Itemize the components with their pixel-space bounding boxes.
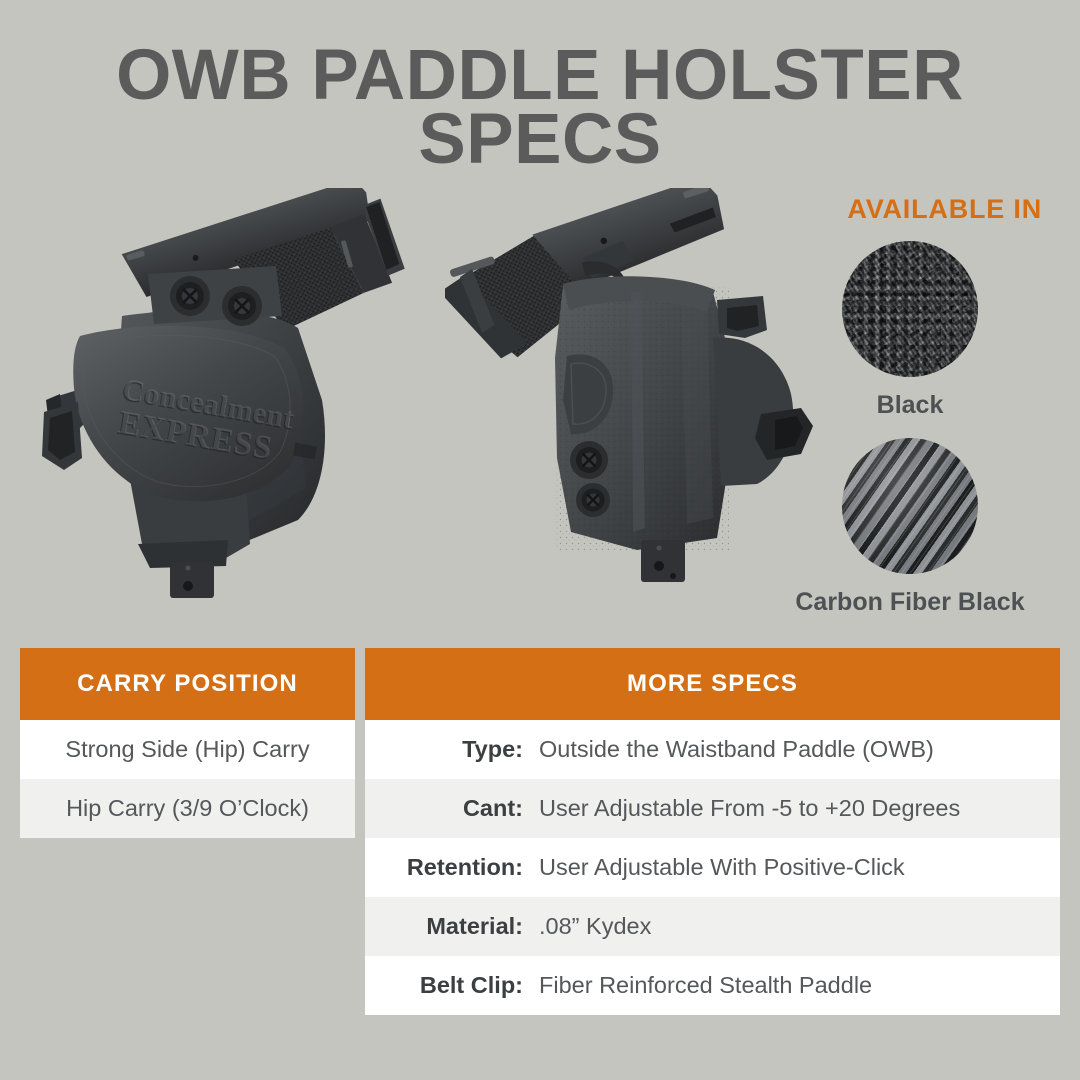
spec-value: Fiber Reinforced Stealth Paddle <box>531 972 872 999</box>
spec-value: User Adjustable With Positive-Click <box>531 854 905 881</box>
table-row: Type: Outside the Waistband Paddle (OWB) <box>365 720 1060 779</box>
spec-value: User Adjustable From -5 to +20 Degrees <box>531 795 960 822</box>
carbon-fiber-black-swatch-label: Carbon Fiber Black <box>760 588 1060 617</box>
spec-label: Belt Clip: <box>365 972 531 999</box>
table-row: Cant: User Adjustable From -5 to +20 Deg… <box>365 779 1060 838</box>
product-image-area: Concealment EXPRESS Concealment EXPRESS <box>0 180 1080 630</box>
carry-position-value: Strong Side (Hip) Carry <box>65 736 309 763</box>
carry-position-value: Hip Carry (3/9 O’Clock) <box>66 795 309 822</box>
table-row: Material: .08” Kydex <box>365 897 1060 956</box>
page-title: OWB PADDLE HOLSTER SPECS <box>0 44 1080 172</box>
available-in-heading: AVAILABLE IN <box>760 194 1060 225</box>
table-row: Belt Clip: Fiber Reinforced Stealth Padd… <box>365 956 1060 1015</box>
spec-label: Material: <box>365 913 531 940</box>
swatch-item-black[interactable]: Black <box>760 241 1060 420</box>
page-title-line-2: SPECS <box>0 108 1080 172</box>
more-specs-table-header: MORE SPECS <box>365 648 1060 720</box>
spec-value: Outside the Waistband Paddle (OWB) <box>531 736 934 763</box>
swatch-item-carbon-fiber-black[interactable]: Carbon Fiber Black <box>760 438 1060 617</box>
table-row: Retention: User Adjustable With Positive… <box>365 838 1060 897</box>
carbon-fiber-black-swatch[interactable] <box>842 438 978 574</box>
more-specs-table: MORE SPECS Type: Outside the Waistband P… <box>365 648 1060 1015</box>
spec-label: Retention: <box>365 854 531 881</box>
spec-label: Type: <box>365 736 531 763</box>
table-row: Strong Side (Hip) Carry <box>20 720 355 779</box>
page-title-line-1: OWB PADDLE HOLSTER <box>0 44 1080 108</box>
carry-position-table: CARRY POSITION Strong Side (Hip) Carry H… <box>20 648 355 838</box>
spec-label: Cant: <box>365 795 531 822</box>
spec-value: .08” Kydex <box>531 913 651 940</box>
carry-position-table-header: CARRY POSITION <box>20 648 355 720</box>
black-swatch-label: Black <box>760 391 1060 420</box>
table-row: Hip Carry (3/9 O’Clock) <box>20 779 355 838</box>
available-in-section: AVAILABLE IN Black Carbon Fiber Black <box>760 194 1060 617</box>
holster-paddle-side-image: Concealment EXPRESS Concealment EXPRESS <box>30 188 430 608</box>
black-swatch[interactable] <box>842 241 978 377</box>
